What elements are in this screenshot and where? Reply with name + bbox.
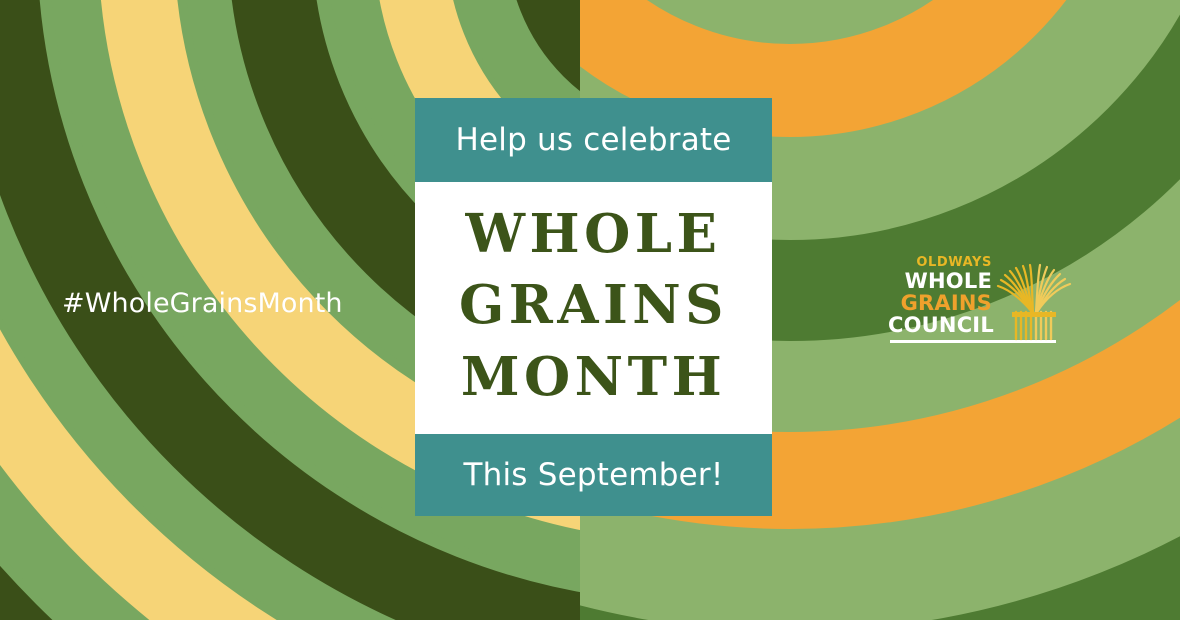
logo-line-oldways: OLDWAYS [888,256,992,269]
logo-line-whole: WHOLE [888,271,992,292]
logo-line-grains: GRAINS [888,293,992,314]
hashtag-text: #WholeGrainsMonth [62,288,343,319]
headline-line-month: MONTH [461,350,726,405]
wheat-sheaf-icon [992,254,1076,342]
headline-line-whole: WHOLE [466,207,722,262]
card-top-banner: Help us celebrate [415,98,772,182]
card-bottom-banner: This September! [415,434,772,516]
announcement-card: Help us celebrate WHOLE GRAINS MONTH Thi… [415,98,772,516]
oldways-whole-grains-council-logo: OLDWAYS WHOLE GRAINS COUNCIL [888,256,1074,352]
logo-wordmark: OLDWAYS WHOLE GRAINS COUNCIL [888,256,992,336]
headline-line-grains: GRAINS [459,278,728,333]
logo-line-council: COUNCIL [888,315,992,336]
card-headline-block: WHOLE GRAINS MONTH [415,182,772,434]
poster-canvas: #WholeGrainsMonth Help us celebrate WHOL… [0,0,1180,620]
